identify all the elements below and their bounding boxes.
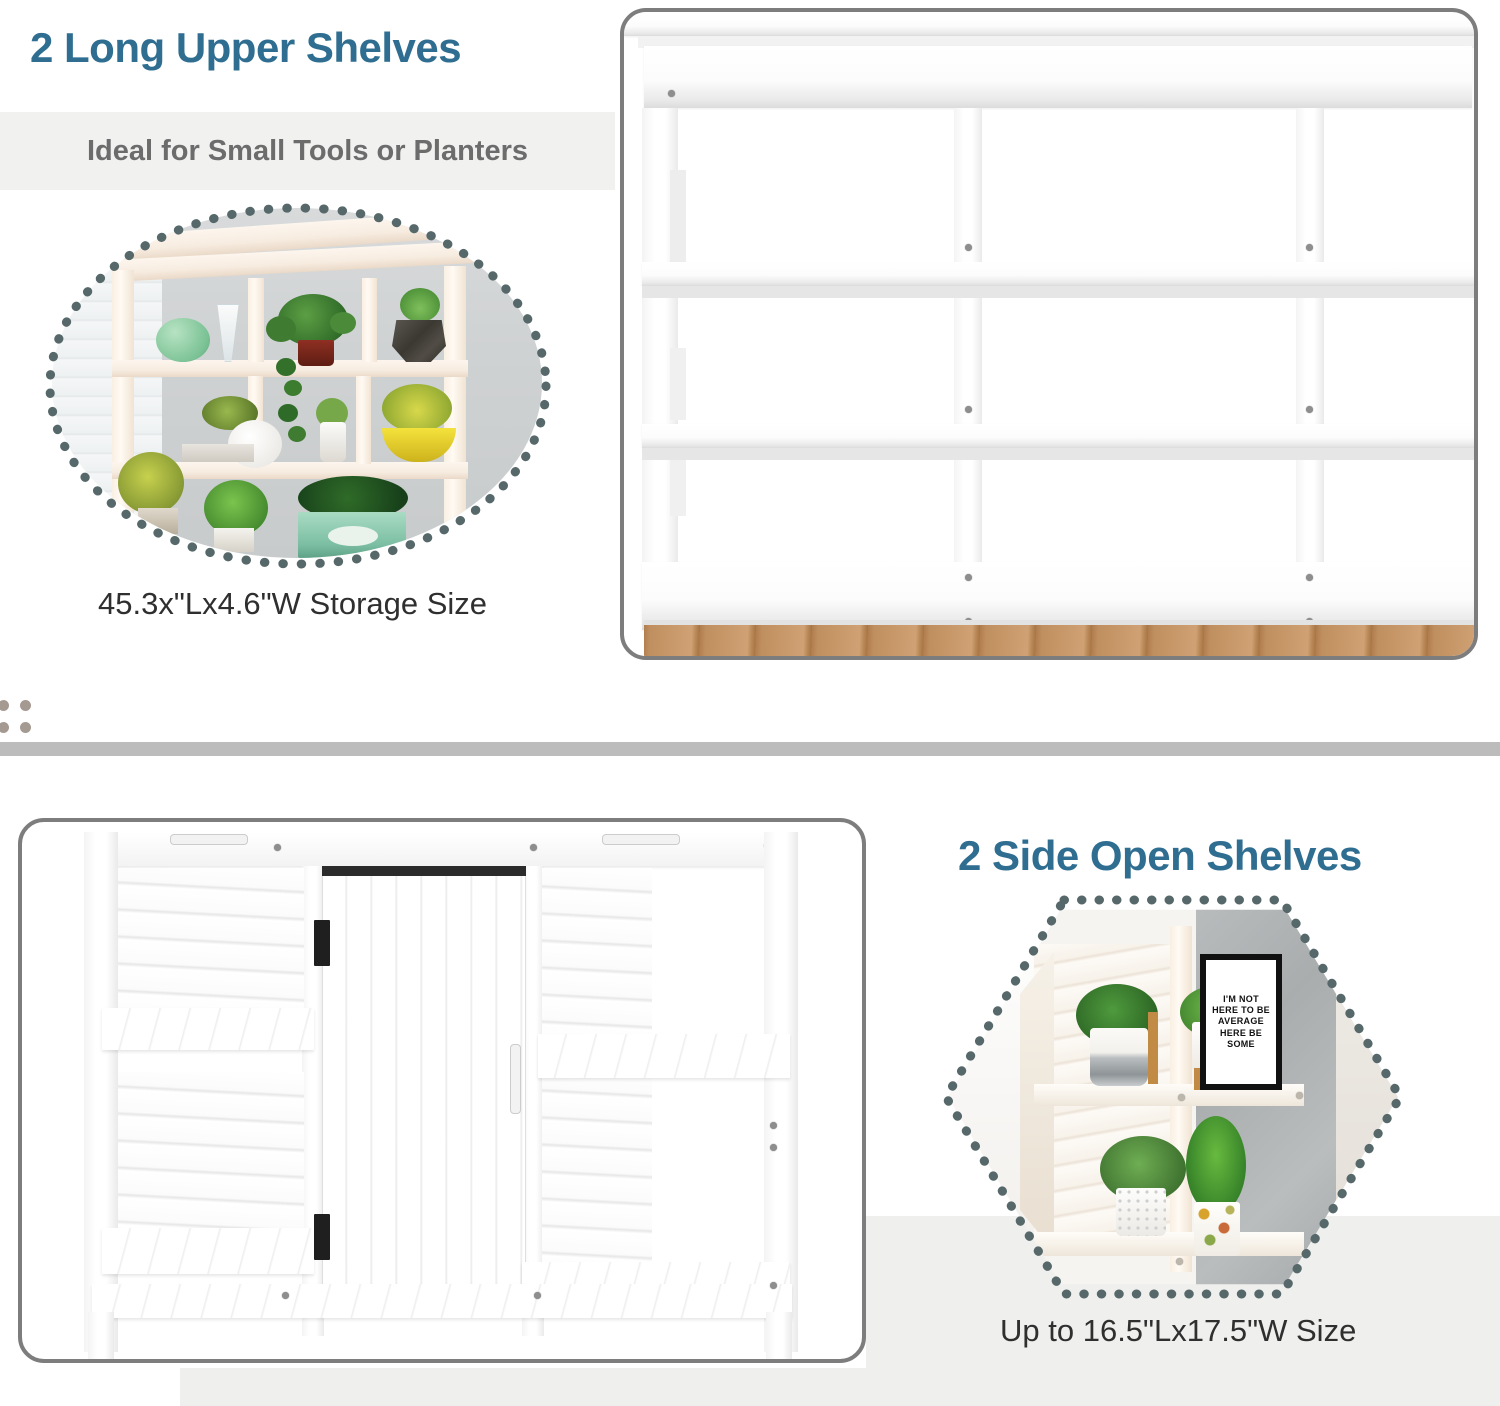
- poster-line-5: SOME: [1227, 1039, 1255, 1049]
- door-hinge-top: [314, 920, 330, 966]
- bottom-section-title: 2 Side Open Shelves: [958, 832, 1362, 880]
- bottom-section-caption: Up to 16.5"Lx17.5"W Size: [1000, 1313, 1356, 1349]
- bottom-product-photo-panel: [18, 818, 866, 1363]
- cabinet-door: [322, 870, 526, 1302]
- top-inset-photo-oval: [52, 208, 542, 558]
- decorative-dots: [0, 700, 38, 736]
- section-divider: [0, 742, 1500, 756]
- wood-worktop: [644, 624, 1476, 660]
- cabinet-door-handle: [510, 1044, 521, 1114]
- poster-line-4: HERE BE: [1220, 1028, 1262, 1038]
- poster-line-3: AVERAGE: [1218, 1016, 1264, 1026]
- top-section-caption: 45.3x"Lx4.6"W Storage Size: [98, 586, 487, 622]
- top-section-subtitle: Ideal for Small Tools or Planters: [0, 112, 615, 190]
- framed-quote-poster: I'M NOT HERE TO BE AVERAGE HERE BE SOME: [1200, 954, 1282, 1090]
- top-section-title: 2 Long Upper Shelves: [30, 24, 461, 72]
- top-product-photo-panel: [620, 8, 1478, 660]
- bottom-left-band: [180, 1368, 866, 1406]
- door-hinge-bottom: [314, 1214, 330, 1260]
- poster-line-2: HERE TO BE: [1212, 1005, 1270, 1015]
- infographic-page: 2 Long Upper Shelves Ideal for Small Too…: [0, 0, 1500, 1406]
- poster-line-1: I'M NOT: [1223, 994, 1259, 1004]
